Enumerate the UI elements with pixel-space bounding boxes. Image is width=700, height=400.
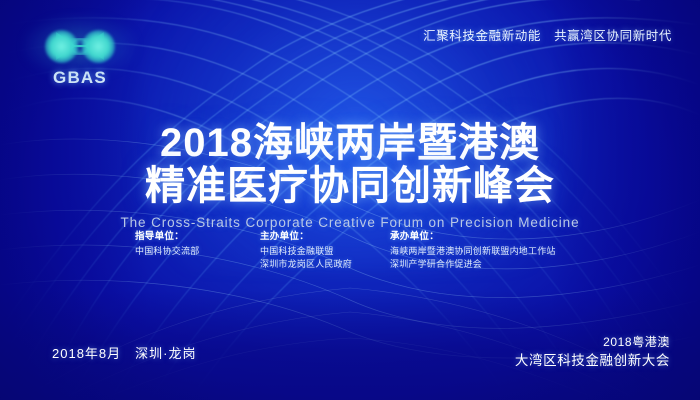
gbas-bowtie-logo-icon	[34, 26, 126, 66]
gbas-logo: GBAS	[34, 26, 126, 88]
organizer-item: 海峡两岸暨港澳协同创新联盟内地工作站	[390, 245, 575, 258]
footer-conference-line-1: 2018粤港澳	[515, 334, 670, 351]
organizer-item: 深圳产学研合作促进会	[390, 258, 575, 271]
event-poster: GBAS 汇聚科技金融新动能 共赢湾区协同新时代 2018海峡两岸暨港澳 精准医…	[0, 0, 700, 400]
organizer-column-host: 主办单位： 中国科技金融联盟 深圳市龙岗区人民政府	[260, 228, 390, 271]
organizer-item: 中国科技金融联盟	[260, 245, 390, 258]
organizer-item: 中国科协交流部	[135, 245, 260, 258]
title-block: 2018海峡两岸暨港澳 精准医疗协同创新峰会 The Cross-Straits…	[0, 122, 700, 230]
footer-date-location: 2018年8月 深圳·龙岗	[52, 343, 196, 362]
organizer-label: 承办单位：	[390, 228, 575, 242]
organizer-label: 指导单位：	[135, 228, 260, 242]
organizer-columns: 指导单位： 中国科协交流部 主办单位： 中国科技金融联盟 深圳市龙岗区人民政府 …	[135, 228, 575, 271]
title-line-2: 精准医疗协同创新峰会	[0, 165, 700, 208]
title-line-1: 2018海峡两岸暨港澳	[0, 122, 700, 165]
footer-conference-line-2: 大湾区科技金融创新大会	[515, 351, 670, 370]
organizer-item: 深圳市龙岗区人民政府	[260, 258, 390, 271]
organizer-column-organizer: 承办单位： 海峡两岸暨港澳协同创新联盟内地工作站 深圳产学研合作促进会	[390, 228, 575, 271]
footer-conference-name: 2018粤港澳 大湾区科技金融创新大会	[515, 334, 670, 370]
organizer-column-guidance: 指导单位： 中国科协交流部	[135, 228, 260, 271]
organizer-label: 主办单位：	[260, 228, 390, 242]
logo-waist	[70, 38, 90, 55]
header-tagline: 汇聚科技金融新动能 共赢湾区协同新时代	[423, 25, 672, 44]
